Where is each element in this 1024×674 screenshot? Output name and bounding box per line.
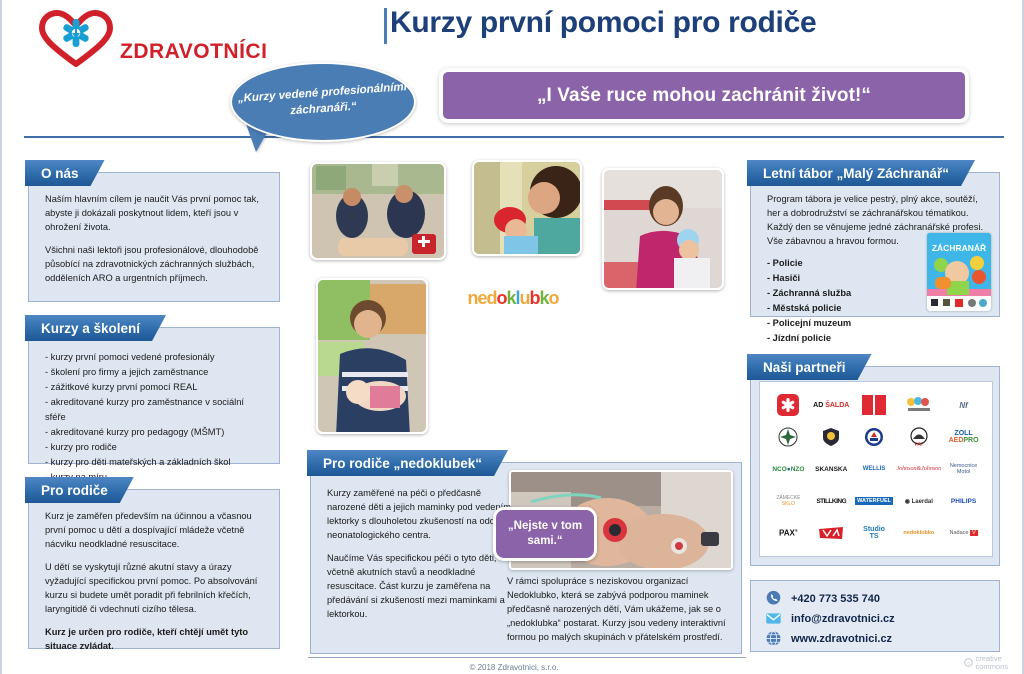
partner-logo-hzs: [854, 424, 895, 450]
header-divider: [24, 136, 1004, 138]
panel-for-parents: Pro rodiče Kurz je zaměřen především na …: [28, 489, 280, 649]
cpr-training-manikin-two-women-image: [312, 164, 446, 260]
panel-nedoklubek-title: Pro rodiče „nedoklubek“: [307, 450, 508, 476]
photo-collage: nedoklubko: [302, 160, 746, 456]
partner-logo-viva: [811, 520, 852, 546]
woman-holding-infant-manikin-image: [318, 280, 428, 434]
partner-logo-wellis: WELLIS: [854, 456, 895, 482]
creative-commons-icon: c: [964, 658, 973, 667]
panel-for-parents-title: Pro rodiče: [25, 477, 134, 503]
list-item: - Policejní muzeum: [767, 316, 985, 331]
contact-email-value: info@zdravotnici.cz: [791, 613, 895, 625]
nedoklubko-logo: nedoklubko: [452, 278, 574, 318]
page-title: Kurzy první pomoci pro rodiče: [390, 6, 816, 40]
mother-with-newborn-red-hat-image: [474, 162, 582, 256]
list-item: - kurzy pro rodiče: [45, 440, 265, 455]
nedoklubko-logo-text: nedoklubko: [467, 288, 558, 309]
copyright-text: © 2018 Zdravotnici, s.r.o.: [2, 663, 1024, 672]
contact-phone-row[interactable]: +420 773 535 740: [765, 590, 999, 607]
contact-email-row[interactable]: info@zdravotnici.cz: [765, 610, 999, 627]
contact-web-value: www.zdravotnici.cz: [791, 633, 892, 645]
panel-partners-title: Naši partneři: [747, 354, 872, 380]
for-parents-paragraph: Kurz je určen pro rodiče, kteří chtějí u…: [45, 626, 265, 654]
svg-text:FAT: FAT: [914, 442, 923, 447]
partner-logo-laerdal: ◉ Laerdal: [896, 488, 941, 514]
panel-camp-title: Letní tábor „Malý Záchranář“: [747, 160, 975, 186]
contact-list: +420 773 535 740 info@zdravotnici.cz www…: [751, 581, 999, 647]
brochure-title-text: ZÁCHRANÁŘ: [932, 242, 986, 253]
collage-photo-woman-infant-manikin: [316, 278, 428, 434]
list-item: - akreditované kurzy pro zaměstnance v s…: [45, 395, 265, 425]
quote-bubble-purple: „Nejste v tom sami.“: [493, 507, 597, 561]
panel-contact: +420 773 535 740 info@zdravotnici.cz www…: [750, 580, 1000, 652]
panel-courses-title: Kurzy a školení: [25, 315, 166, 341]
heart-star-of-life-logo-icon: [36, 10, 116, 70]
panel-nedoklubek: Pro rodiče „nedoklubek“ „Nejste v tom sa…: [310, 462, 742, 654]
partner-logo-nco-nzo: NCO●NZO: [768, 456, 809, 482]
creative-commons-watermark: c creative commons: [964, 655, 1008, 671]
panel-about: O nás Naším hlavním cílem je naučit Vás …: [28, 172, 280, 302]
partner-logo-praha: [854, 392, 895, 418]
partner-logo-policie-cr: [768, 424, 809, 450]
partner-logo-grid: AD ŠALDA Nf: [760, 382, 992, 552]
quote-bubble-blue: „Kurzy vedené profesionálními záchranáři…: [230, 62, 416, 142]
partner-logo-pax: PAX®: [768, 520, 809, 546]
nedoklubek-paragraph: Kurzy zaměřené na péči o předčasně naroz…: [327, 487, 517, 543]
list-item: - kurzy pro děti mateřských a základních…: [45, 455, 265, 470]
panel-partners: Naši partneři AD ŠALDA Nf: [750, 366, 1000, 566]
maly-zachranar-brochure-cover-image: ZÁCHRANÁŘ: [927, 233, 991, 311]
partner-logo-ad-salda: AD ŠALDA: [811, 392, 852, 418]
partner-logo-zamecke-sklo: ZÁMECKÉSKLO: [768, 488, 809, 514]
partner-logo-philips: PHILIPS: [943, 488, 984, 514]
envelope-icon: [765, 610, 782, 627]
slogan-banner: „I Vaše ruce mohou zachránit život!“: [439, 68, 969, 123]
partner-logo-zs-na-smetance: [896, 392, 941, 418]
partner-logo-nedoklubko: nedoklubko: [896, 520, 941, 546]
collage-photo-cpr-training: [310, 162, 446, 260]
brand-name: ZDRAVOTNÍCI: [120, 40, 267, 64]
partner-logo-vodafone: Nadace V: [943, 520, 984, 546]
partner-logo-box: AD ŠALDA Nf: [759, 381, 993, 557]
poster-page: ZDRAVOTNÍCI Kurzy první pomoci pro rodič…: [0, 0, 1024, 674]
poster-header: ZDRAVOTNÍCI Kurzy první pomoci pro rodič…: [2, 0, 1024, 142]
cc-line-2: commons: [975, 663, 1008, 671]
nedoklubek-right-text: V rámci spolupráce s neziskovou organiza…: [507, 575, 733, 654]
nedoklubek-paragraph: Naučíme Vás specifickou péči o tyto děti…: [327, 552, 517, 622]
partner-logo-waterfuel: WATERFUEL: [854, 488, 895, 514]
list-item: - Jízdní policie: [767, 331, 985, 346]
about-paragraph: Naším hlavním cílem je naučit Vás první …: [45, 193, 265, 235]
globe-icon: [765, 630, 782, 647]
slogan-text: „I Vaše ruce mohou zachránit život!“: [537, 85, 871, 107]
quote-bubble-blue-text: „Kurzy vedené profesionálními záchranáři…: [231, 80, 415, 124]
list-item: - zážitkové kurzy první pomocí REAL: [45, 380, 265, 395]
panel-camp: Letní tábor „Malý Záchranář“ Program táb…: [750, 172, 1000, 317]
collage-photo-mother-baby-blue-hat: [602, 168, 724, 290]
mother-holding-baby-blue-hat-image: [604, 170, 724, 290]
camp-brochure-image: ZÁCHRANÁŘ: [927, 233, 991, 311]
list-item: - akreditované kurzy pro pedagogy (MŠMT): [45, 425, 265, 440]
partner-logo-nf: Nf: [943, 392, 984, 418]
partner-logo-johnson-johnson: Johnson&Johnson: [896, 456, 941, 482]
title-accent-bar: [384, 8, 387, 44]
for-parents-paragraph: U dětí se vyskytují různé akutní stavy a…: [45, 561, 265, 617]
nedoklubek-paragraph: V rámci spolupráce s neziskovou organiza…: [507, 575, 733, 645]
partner-logo-fat: FAT: [896, 424, 941, 450]
for-parents-paragraph: Kurz je zaměřen především na účinnou a v…: [45, 510, 265, 552]
about-paragraph: Všichni naši lektoři jsou profesionálové…: [45, 244, 265, 286]
contact-phone-value: +420 773 535 740: [791, 593, 880, 605]
phone-icon: [765, 590, 782, 607]
nedoklubek-left-text: Kurzy zaměřené na péči o předčasně naroz…: [327, 487, 517, 630]
collage-photo-mother-newborn: [472, 160, 582, 256]
about-text: Naším hlavním cílem je naučit Vás první …: [45, 193, 265, 286]
partner-logo-studio-ts: StudioTS: [854, 520, 895, 546]
partner-logo-zoll-aed-pro: ZOLLAEDPRO: [943, 424, 984, 450]
partner-logo-mestska-policie: [811, 424, 852, 450]
list-item: - školení pro firmy a jejich zaměstnance: [45, 365, 265, 380]
footer-divider: [308, 657, 746, 658]
panel-courses: Kurzy a školení - kurzy první pomoci ved…: [28, 327, 280, 464]
for-parents-text: Kurz je zaměřen především na účinnou a v…: [45, 510, 265, 653]
partner-logo-zachranka: [768, 392, 809, 418]
svg-text:c: c: [968, 661, 971, 666]
courses-list: - kurzy první pomoci vedené profesionály…: [45, 350, 265, 485]
partner-logo-stillking: STILLKING: [811, 488, 852, 514]
brand-logo: ZDRAVOTNÍCI: [36, 10, 266, 70]
list-item: - kurzy první pomoci vedené profesionály: [45, 350, 265, 365]
partner-logo-nemocnice-motol: NemocniceMotol: [943, 456, 984, 482]
partner-logo-skanska: SKANSKA: [811, 456, 852, 482]
contact-web-row[interactable]: www.zdravotnici.cz: [765, 630, 999, 647]
panel-about-title: O nás: [25, 160, 105, 186]
quote-bubble-purple-text: „Nejste v tom sami.“: [496, 519, 594, 549]
